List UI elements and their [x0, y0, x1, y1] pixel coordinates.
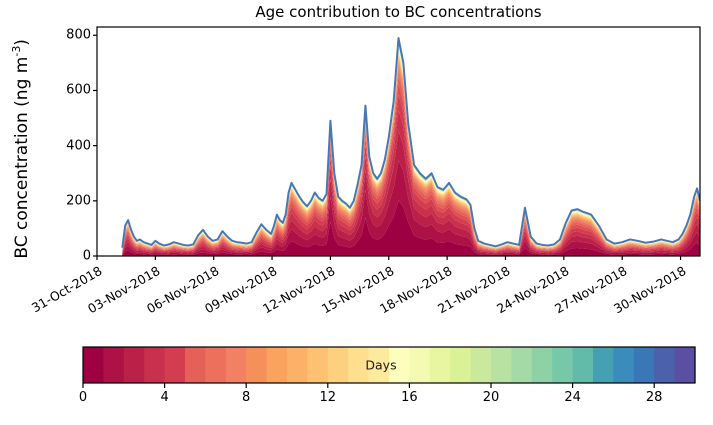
colorbar-tick-label: 12 [320, 390, 337, 405]
colorbar-tick-label: 20 [483, 390, 500, 405]
chart-figure: Age contribution to BC concentrations BC… [0, 0, 713, 425]
plot-area [0, 0, 713, 425]
colorbar-tick-label: 8 [242, 390, 250, 405]
colorbar-tick-label: 4 [160, 390, 168, 405]
colorbar-tick-label: 0 [79, 390, 87, 405]
colorbar-tick-label: 16 [401, 390, 418, 405]
colorbar-tick-label: 24 [564, 390, 581, 405]
colorbar-label: Days [365, 358, 396, 373]
colorbar-tick-label: 28 [646, 390, 663, 405]
